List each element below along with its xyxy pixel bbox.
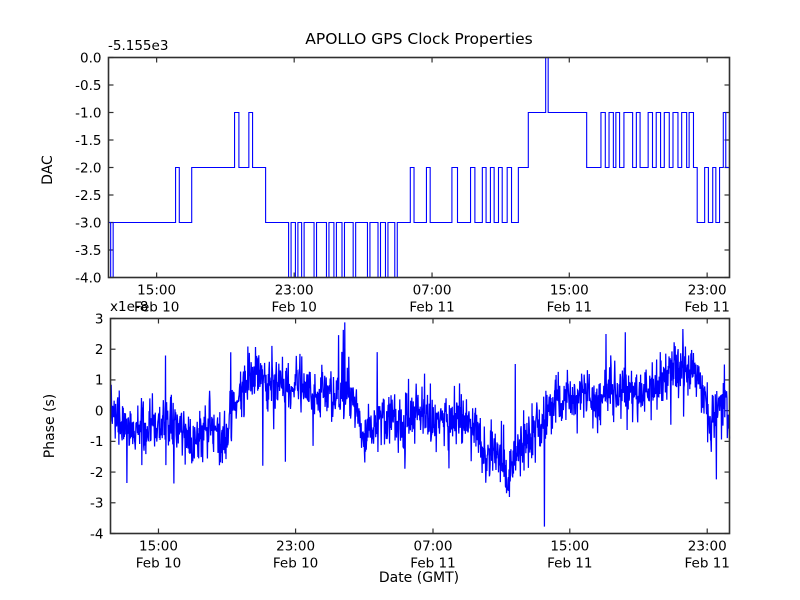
y-tick-label: -1 xyxy=(90,434,103,450)
dac-y-offset-label: -5.155e3 xyxy=(108,38,168,54)
phase-plot-panel: x1e-8 Phase (s) Date (GMT) 3210-1-2-3-4 … xyxy=(42,299,730,586)
x-tick-label-time: 23:00 xyxy=(275,283,314,299)
x-tick-label-time: 15:00 xyxy=(137,283,176,299)
x-tick-label-time: 15:00 xyxy=(550,539,589,555)
x-tick-label-date: Feb 10 xyxy=(271,300,316,316)
x-tick-label-date: Feb 11 xyxy=(684,300,729,316)
x-tick-label-time: 23:00 xyxy=(688,283,727,299)
x-tick-label-time: 23:00 xyxy=(276,539,315,555)
y-tick-label: -2.5 xyxy=(75,188,101,204)
x-tick-label-date: Feb 11 xyxy=(685,556,730,572)
x-tick-label-time: 23:00 xyxy=(688,539,727,555)
phase-x-axis-title: Date (GMT) xyxy=(379,570,459,586)
phase-y-axis-title: Phase (s) xyxy=(42,394,58,458)
y-tick-label: 0.0 xyxy=(80,50,101,66)
phase-data-line xyxy=(111,322,730,526)
y-tick-label: 0 xyxy=(95,403,104,419)
x-tick-label-time: 07:00 xyxy=(413,283,452,299)
dac-plot-panel: -5.155e3 DAC 0.0-0.5-1.0-1.5-2.0-2.5-3.0… xyxy=(40,38,730,316)
dac-data-line xyxy=(109,58,730,278)
y-tick-label: -1.5 xyxy=(75,133,101,149)
y-tick-label: -4 xyxy=(90,526,103,542)
x-tick-label-date: Feb 11 xyxy=(410,556,455,572)
figure-canvas: APOLLO GPS Clock Properties -5.155e3 DAC… xyxy=(0,0,800,600)
x-tick-label-time: 15:00 xyxy=(550,283,589,299)
dac-y-tick-group: 0.0-0.5-1.0-1.5-2.0-2.5-3.0-3.5-4.0 xyxy=(75,50,729,286)
x-tick-label-date: Feb 10 xyxy=(136,556,181,572)
x-tick-label-date: Feb 11 xyxy=(409,300,454,316)
y-tick-label: -4.0 xyxy=(75,270,101,286)
x-tick-label-date: Feb 10 xyxy=(273,556,318,572)
dac-y-axis-title: DAC xyxy=(40,155,56,185)
y-tick-label: 1 xyxy=(95,373,104,389)
page-title: APOLLO GPS Clock Properties xyxy=(305,30,533,48)
x-tick-label-date: Feb 11 xyxy=(547,556,592,572)
y-tick-label: -1.0 xyxy=(75,105,101,121)
x-tick-label-time: 15:00 xyxy=(139,539,178,555)
y-tick-label: 3 xyxy=(95,311,104,327)
x-tick-label-date: Feb 11 xyxy=(547,300,592,316)
matplotlib-figure: APOLLO GPS Clock Properties -5.155e3 DAC… xyxy=(0,0,800,600)
y-tick-label: 2 xyxy=(95,342,104,358)
x-tick-label-time: 07:00 xyxy=(414,539,453,555)
y-tick-label: -2.0 xyxy=(75,160,101,176)
y-tick-label: -3.5 xyxy=(75,243,101,259)
phase-y-offset-label: x1e-8 xyxy=(110,299,148,315)
y-tick-label: -2 xyxy=(90,465,103,481)
y-tick-label: -0.5 xyxy=(75,78,101,94)
y-tick-label: -3 xyxy=(90,496,103,512)
y-tick-label: -3.0 xyxy=(75,215,101,231)
